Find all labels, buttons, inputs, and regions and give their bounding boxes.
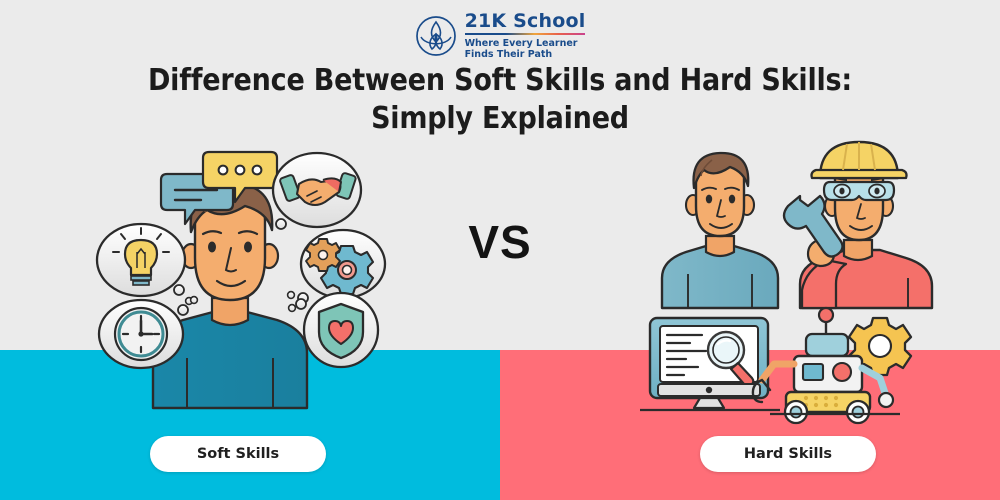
page-title: Difference Between Soft Skills and Hard … [0, 62, 1000, 139]
monitor-code-magnifier-icon [640, 318, 780, 410]
brand-gradient-rule [465, 33, 586, 36]
brand-logo[interactable]: 21K School Where Every Learner Finds The… [0, 12, 1000, 61]
soft-skills-label-pill[interactable]: Soft Skills [150, 436, 326, 472]
hard-skills-label-text: Hard Skills [744, 446, 832, 462]
versus-label: VS [0, 215, 1000, 269]
page-title-line1: Difference Between Soft Skills and Hard … [148, 63, 852, 98]
hard-skills-label-pill[interactable]: Hard Skills [700, 436, 876, 472]
soft-skills-illustration [95, 148, 395, 408]
soft-skills-label-text: Soft Skills [197, 446, 279, 462]
hard-skills-illustration [640, 148, 950, 416]
page-title-line2: Simply Explained [371, 101, 629, 136]
brand-logo-text: 21K School Where Every Learner Finds The… [465, 12, 586, 61]
robot-gear-icon [753, 308, 911, 423]
brand-tagline: Where Every Learner Finds Their Path [465, 38, 586, 61]
brand-name: 21K School [465, 12, 586, 31]
brand-tagline-line1: Where Every Learner [465, 38, 578, 49]
lotus-circle-icon [415, 15, 457, 57]
brand-tagline-line2: Finds Their Path [465, 49, 553, 60]
